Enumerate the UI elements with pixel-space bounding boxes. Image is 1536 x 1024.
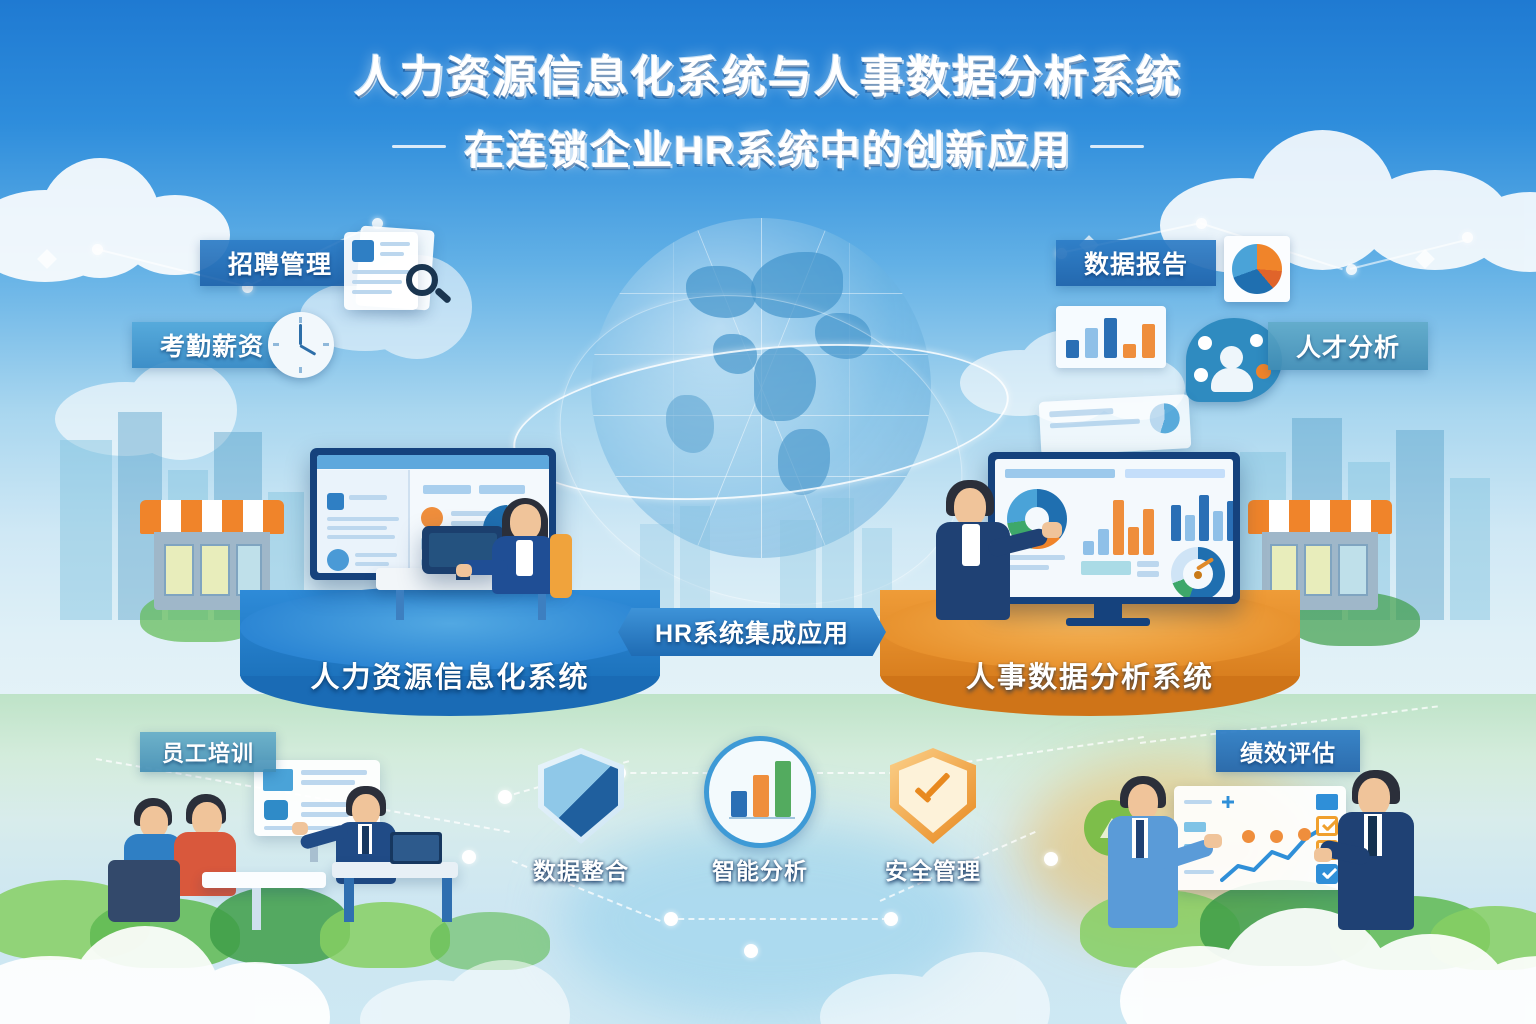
title-dash-right [1090,145,1144,148]
attendee-desk [202,872,326,888]
shield-blue-icon [538,748,624,844]
title-line-2: 在连锁企业HR系统中的创新应用 [464,118,1072,176]
center-banner-label: HR系统集成应用 [655,614,849,650]
gauge-chart [1171,547,1225,597]
employee-training-scene [112,756,472,936]
infographic-canvas: 人力资源信息化系统与人事数据分析系统 在连锁企业HR系统中的创新应用 [0,0,1536,1024]
performance-chart-icon [1174,786,1346,890]
presenter-laptop[interactable] [390,832,442,864]
center-integration-banner[interactable]: HR系统集成应用 [618,608,886,656]
checkbox-checked[interactable] [1316,816,1338,836]
badge-employee-training[interactable]: 员工培训 [140,732,276,772]
performance-review-scene [1062,752,1462,942]
pillar-data-integration[interactable]: 数据整合 [514,748,648,886]
badge-recruitment-management[interactable]: 招聘管理 [200,240,360,286]
pillar-intelligent-analysis[interactable]: 智能分析 [690,736,830,886]
badge-talent-analysis[interactable]: 人才分析 [1268,322,1428,370]
bar-chart-icon [1056,306,1166,368]
analyst-presenting-dashboard [944,430,1244,620]
officer-head [510,504,541,540]
title-line-1: 人力资源信息化系统与人事数据分析系统 [0,52,1536,104]
resume-search-icon [340,226,458,312]
pillar-label: 智能分析 [690,852,830,886]
checkbox-checked-blue[interactable] [1316,864,1338,884]
hr-officer-at-desk [310,448,592,618]
pillar-label: 安全管理 [866,852,1000,886]
badge-label: 考勤薪资 [160,327,264,363]
title-dash-left [392,145,446,148]
pillar-security-management[interactable]: 安全管理 [866,748,1000,886]
clock-icon [268,312,334,378]
badge-label: 数据报告 [1084,245,1188,281]
badge-label: 绩效评估 [1240,734,1336,768]
presenter-desk [332,862,458,878]
floating-panel [1039,394,1192,456]
bar-chart-circle-icon [704,736,816,848]
pie-chart-icon [1224,236,1290,302]
analyst-head [954,488,986,526]
platform-analytics-label: 人事数据分析系统 [880,654,1300,696]
pillar-label: 数据整合 [514,852,648,886]
office-chair [550,534,572,598]
badge-performance-evaluation[interactable]: 绩效评估 [1216,730,1360,772]
column-chart [1081,493,1159,555]
bar-chart [1171,489,1233,541]
badge-label: 员工培训 [162,736,254,768]
platform-hris-label: 人力资源信息化系统 [240,654,660,696]
badge-label: 招聘管理 [228,245,332,281]
badge-data-report[interactable]: 数据报告 [1056,240,1216,286]
page-title: 人力资源信息化系统与人事数据分析系统 在连锁企业HR系统中的创新应用 [0,52,1536,176]
chair [108,860,180,922]
analytics-dashboard-monitor[interactable] [988,452,1240,604]
badge-label: 人才分析 [1296,328,1400,364]
shield-check-orange-icon [890,748,976,844]
